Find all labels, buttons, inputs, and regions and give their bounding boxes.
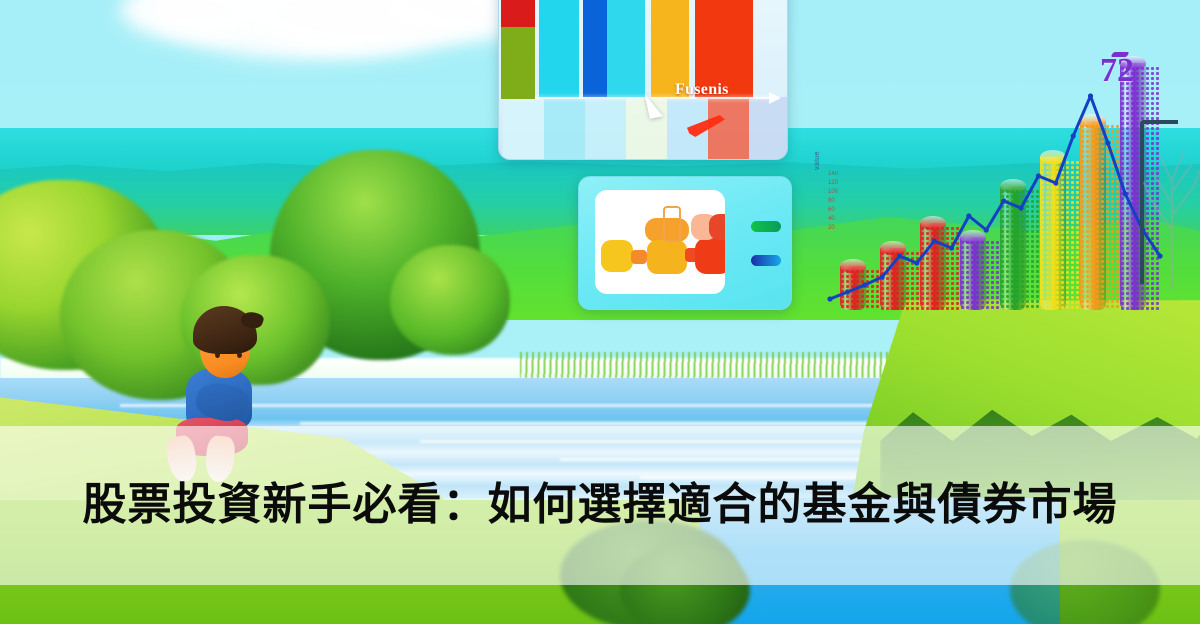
character-eye bbox=[215, 352, 220, 358]
dashboard-ground-segment bbox=[503, 97, 544, 159]
pill-blue[interactable] bbox=[751, 255, 781, 266]
dashboard-bar bbox=[539, 0, 579, 99]
coral-silhouette-icon bbox=[1140, 120, 1200, 290]
character-eye bbox=[237, 352, 242, 358]
dashboard-ground-segment bbox=[749, 97, 788, 159]
dashboard-bar bbox=[501, 27, 535, 99]
bar-dashboard-card[interactable]: Fusenis bbox=[498, 0, 788, 160]
chart-halftone bbox=[1040, 160, 1080, 310]
chart-halftone bbox=[1000, 189, 1040, 310]
annotation-72: 72 bbox=[1100, 52, 1134, 90]
title-overlay: 股票投資新手必看：如何選擇適合的基金與債券市場 bbox=[0, 426, 1200, 585]
dashboard-bars bbox=[499, 0, 787, 159]
chart-halftone bbox=[920, 226, 960, 310]
shape-red-top-right bbox=[709, 214, 725, 240]
chart-y-axis-label: value bbox=[814, 152, 821, 170]
banner-image: value 14012010080604020 72 Fusenis bbox=[0, 0, 1200, 624]
shape-red-right bbox=[695, 238, 725, 274]
chart-halftone bbox=[840, 269, 880, 310]
chart-halftone bbox=[880, 251, 920, 310]
dashboard-ground-segment bbox=[544, 97, 585, 159]
dashboard-bar bbox=[607, 0, 645, 99]
dashboard-ground-segment bbox=[708, 97, 749, 159]
arrow-right-icon bbox=[769, 92, 781, 104]
brand-label: Fusenis bbox=[675, 81, 729, 99]
shape-yellow-left bbox=[601, 240, 633, 272]
chart-halftone bbox=[960, 240, 1000, 310]
dashboard-axis-line bbox=[509, 97, 773, 99]
abstract-shapes-card[interactable] bbox=[578, 176, 792, 310]
chart-axis-ticks: 14012010080604020 bbox=[828, 170, 838, 233]
shape-amber-center bbox=[647, 240, 687, 274]
shape-thin-frame bbox=[663, 206, 681, 242]
pill-green[interactable] bbox=[751, 221, 781, 232]
shape-orange-connector-1 bbox=[631, 250, 647, 264]
page-title: 股票投資新手必看：如何選擇適合的基金與債券市場 bbox=[83, 481, 1118, 529]
tree bbox=[390, 245, 510, 355]
dashboard-ground-segment bbox=[585, 97, 626, 159]
shapes-canvas bbox=[595, 190, 725, 294]
chart-halftone bbox=[1080, 124, 1120, 310]
